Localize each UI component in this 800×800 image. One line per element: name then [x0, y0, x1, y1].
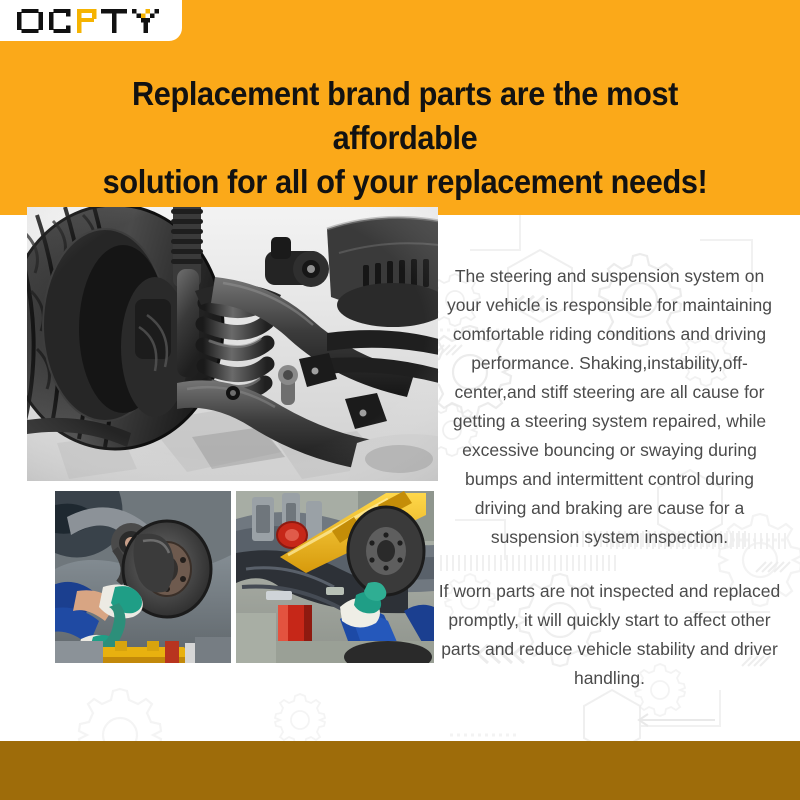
logo-lockup: OCPTY	[16, 8, 166, 34]
copy-paragraph-2: If worn parts are not inspected and repl…	[437, 577, 782, 693]
suspension-photo	[27, 207, 438, 481]
headline-line-1: Replacement brand parts are the most aff…	[132, 75, 678, 156]
underbody-service-photo	[236, 491, 434, 663]
ocpty-logo-icon	[16, 8, 166, 34]
promo-poster: OCPTY Replacement brand parts are the mo…	[0, 0, 800, 800]
copy-paragraph-1: The steering and suspension system on yo…	[437, 262, 782, 552]
brand-logo[interactable]: OCPTY	[0, 0, 182, 41]
page-title: Replacement brand parts are the most aff…	[66, 72, 745, 204]
footer-bar	[0, 741, 800, 800]
headline-line-2: solution for all of your replacement nee…	[66, 160, 745, 204]
body-copy: The steering and suspension system on yo…	[437, 262, 782, 693]
brake-service-photo	[55, 491, 231, 663]
